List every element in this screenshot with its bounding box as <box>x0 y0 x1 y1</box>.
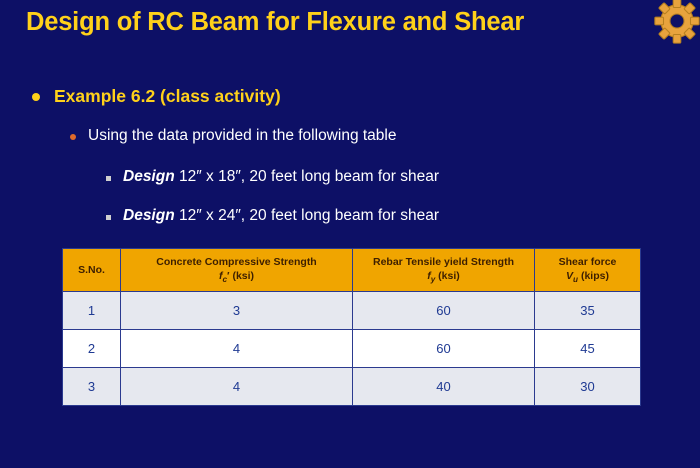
bullet-level3-emphasis: Design <box>123 207 175 224</box>
cell-vu: 35 <box>535 292 641 330</box>
slide: Design of RC Beam for Flexure and Shear … <box>0 0 700 468</box>
table-header-sno: S.No. <box>63 249 121 292</box>
cell-fy: 40 <box>353 368 535 406</box>
bullet-level1-label: Example 6.2 (class activity) <box>54 86 281 107</box>
cell-sno: 3 <box>63 368 121 406</box>
table-header-concrete-strength: Concrete Compressive Strength fc′ (ksi) <box>121 249 353 292</box>
bullet-level1: Example 6.2 (class activity) <box>32 86 281 107</box>
page-title: Design of RC Beam for Flexure and Shear <box>26 8 524 37</box>
bullet-dot-icon <box>32 93 40 101</box>
header-line1: Concrete Compressive Strength <box>125 255 348 269</box>
table-row: 3 4 40 30 <box>63 368 641 406</box>
table-row: 1 3 60 35 <box>63 292 641 330</box>
cell-sno: 1 <box>63 292 121 330</box>
bullet-level2: Using the data provided in the following… <box>70 127 396 145</box>
bullet-level3-text: Design 12″ x 24″, 20 feet long beam for … <box>123 207 439 225</box>
cell-vu: 30 <box>535 368 641 406</box>
header-line2: fy (ksi) <box>357 269 530 285</box>
table-header-row: S.No. Concrete Compressive Strength fc′ … <box>63 249 641 292</box>
cell-vu: 45 <box>535 330 641 368</box>
cell-sno: 2 <box>63 330 121 368</box>
bullet-dot-icon <box>70 134 76 140</box>
bullet-level3-text: Design 12″ x 18″, 20 feet long beam for … <box>123 168 439 186</box>
bullet-level3-item: Design 12″ x 24″, 20 feet long beam for … <box>106 207 439 225</box>
data-table: S.No. Concrete Compressive Strength fc′ … <box>62 248 641 406</box>
header-line1: S.No. <box>67 263 116 277</box>
bullet-level3-emphasis: Design <box>123 168 175 185</box>
bullet-square-icon <box>106 215 111 220</box>
bullet-level3-item: Design 12″ x 18″, 20 feet long beam for … <box>106 168 439 186</box>
cell-fc: 4 <box>121 368 353 406</box>
cell-fy: 60 <box>353 330 535 368</box>
table-header-rebar-strength: Rebar Tensile yield Strength fy (ksi) <box>353 249 535 292</box>
table-header-shear-force: Shear force Vu (kips) <box>535 249 641 292</box>
bullet-level3-rest: 12″ x 18″, 20 feet long beam for shear <box>175 168 439 185</box>
header-line2: Vu (kips) <box>539 269 636 285</box>
bullet-level3-rest: 12″ x 24″, 20 feet long beam for shear <box>175 207 439 224</box>
header-line1: Shear force <box>539 255 636 269</box>
cell-fc: 4 <box>121 330 353 368</box>
bullet-level2-label: Using the data provided in the following… <box>88 127 396 145</box>
gear-icon <box>650 0 700 48</box>
cell-fy: 60 <box>353 292 535 330</box>
header-line2: fc′ (ksi) <box>125 269 348 285</box>
cell-fc: 3 <box>121 292 353 330</box>
header-line1: Rebar Tensile yield Strength <box>357 255 530 269</box>
table-row: 2 4 60 45 <box>63 330 641 368</box>
bullet-square-icon <box>106 176 111 181</box>
